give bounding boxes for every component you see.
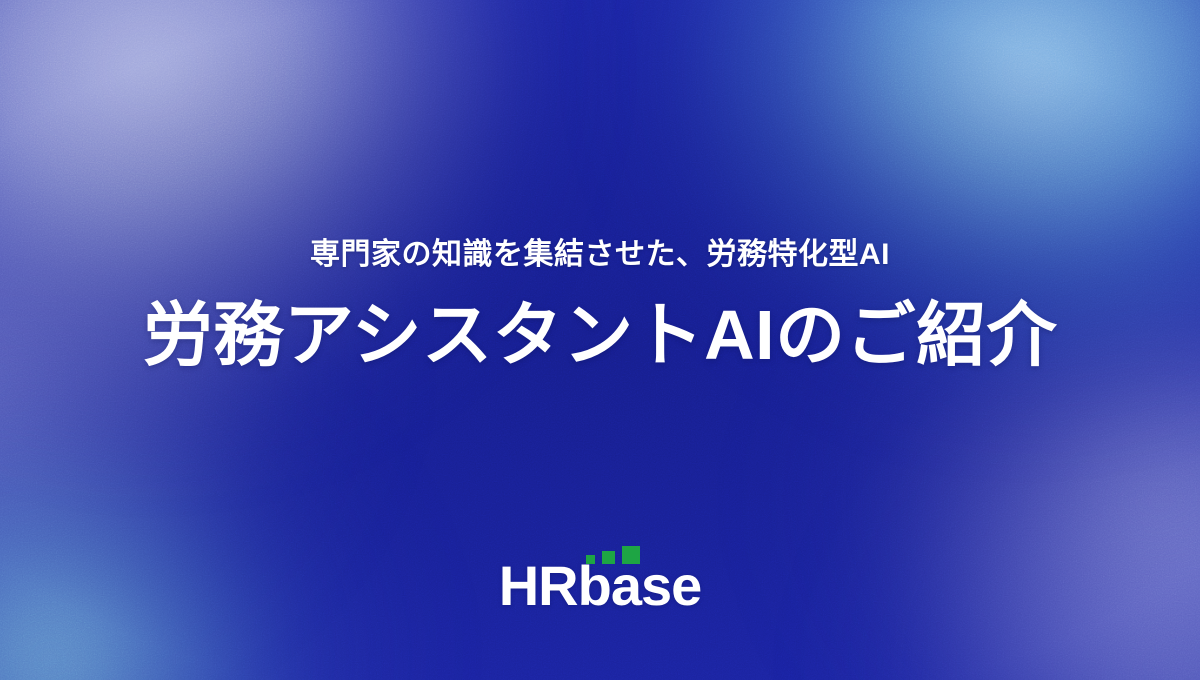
title-slide: 専門家の知識を集結させた、労務特化型AI 労務アシスタントAIのご紹介 HRba… xyxy=(0,0,1200,680)
slide-content: 専門家の知識を集結させた、労務特化型AI 労務アシスタントAIのご紹介 HRba… xyxy=(0,0,1200,680)
slide-title: 労務アシスタントAIのご紹介 xyxy=(0,296,1200,374)
slide-subtitle: 専門家の知識を集結させた、労務特化型AI xyxy=(0,238,1200,273)
logo-wordmark: HRbase xyxy=(480,558,720,614)
hrbase-logo: HRbase xyxy=(480,536,720,620)
